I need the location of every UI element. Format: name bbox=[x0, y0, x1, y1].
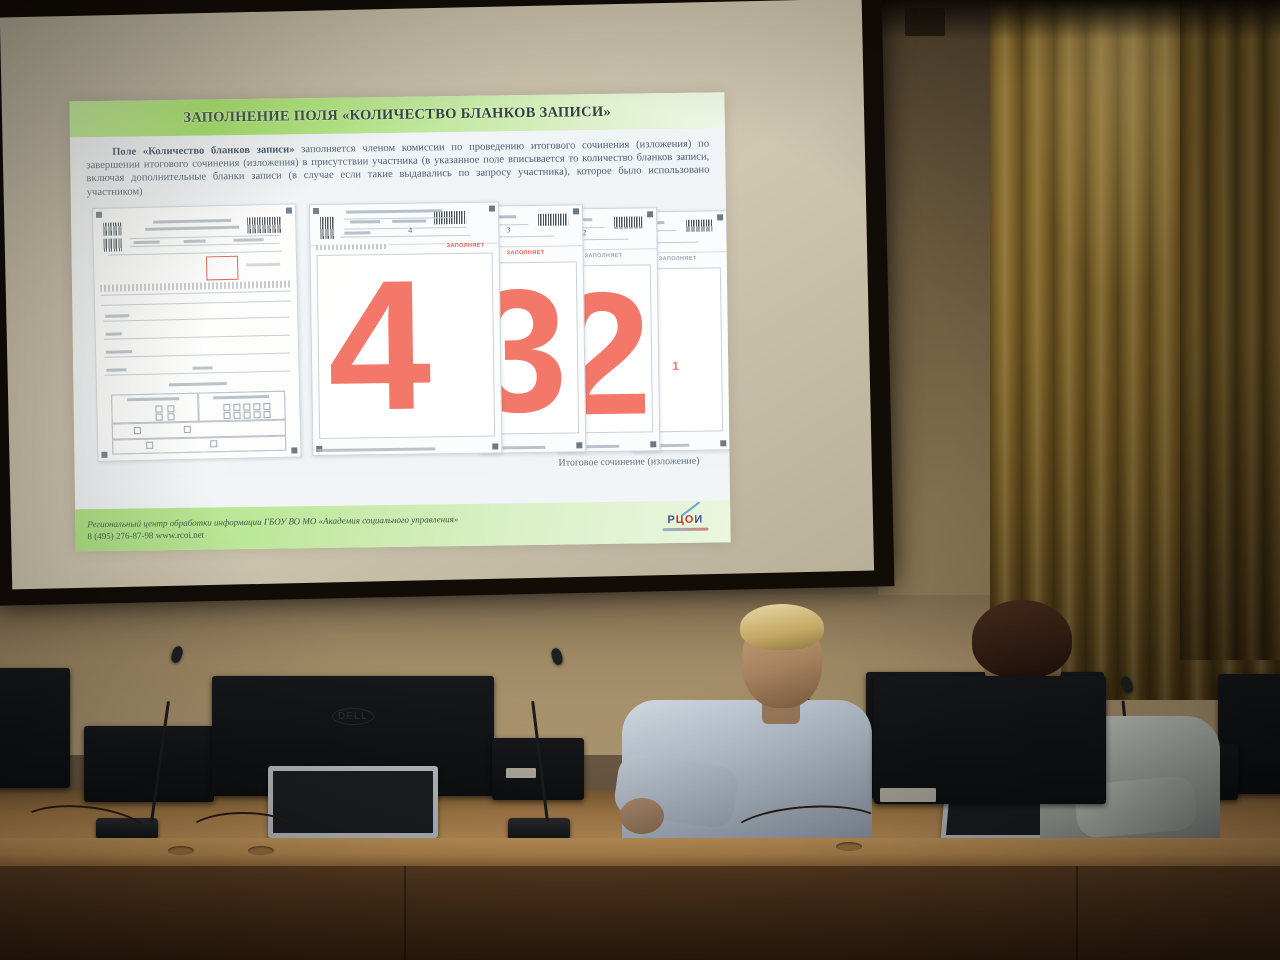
footer-contact: Региональный центр обработки информации … bbox=[75, 513, 458, 542]
count-field-highlight bbox=[206, 256, 239, 281]
slide-title: ЗАПОЛНЕНИЕ ПОЛЯ «КОЛИЧЕСТВО БЛАНКОВ ЗАПИ… bbox=[183, 103, 611, 126]
slide-footer-band: Региональный центр обработки информации … bbox=[75, 500, 731, 551]
colleague-hair bbox=[972, 600, 1072, 678]
desk-panel-seam-2 bbox=[1076, 866, 1078, 960]
presentation-slide: ЗАПОЛНЕНИЕ ПОЛЯ «КОЛИЧЕСТВО БЛАНКОВ ЗАПИ… bbox=[69, 92, 730, 551]
rcoi-logo-icon: РЦОИ bbox=[658, 507, 712, 536]
desk-cable-center bbox=[186, 812, 300, 856]
rcoi-underline bbox=[662, 527, 708, 531]
desk-front-panel bbox=[0, 866, 1280, 960]
cable-grommet-1 bbox=[168, 846, 194, 855]
conference-room-photo: ЗАПОЛНЕНИЕ ПОЛЯ «КОЛИЧЕСТВО БЛАНКОВ ЗАПИ… bbox=[0, 0, 1280, 960]
answer-sheets-fan: 1 ЗАПОЛНЯЕТ 1 bbox=[305, 194, 729, 462]
slide-caption: Итоговое сочинение (изложение) bbox=[558, 455, 699, 468]
back-wall-right bbox=[878, 0, 1008, 640]
projection-screen: ЗАПОЛНЕНИЕ ПОЛЯ «КОЛИЧЕСТВО БЛАНКОВ ЗАПИ… bbox=[0, 0, 895, 612]
forms-illustration: 1 ЗАПОЛНЯЕТ 1 bbox=[87, 198, 714, 479]
slide-paragraph: Поле «Количество бланков записи» заполня… bbox=[86, 138, 710, 200]
microphone-base-2 bbox=[508, 818, 570, 840]
rcoi-logo-text: РЦОИ bbox=[667, 513, 703, 525]
desk-panel-seam bbox=[404, 866, 406, 960]
monitor-far-left bbox=[0, 668, 70, 788]
dell-logo-icon: DELL bbox=[332, 708, 374, 725]
monitor-front-right bbox=[874, 676, 1106, 804]
speaker-hand bbox=[620, 798, 664, 834]
screen-surface: ЗАПОЛНЕНИЕ ПОЛЯ «КОЛИЧЕСТВО БЛАНКОВ ЗАПИ… bbox=[0, 0, 874, 589]
registration-form-image bbox=[92, 203, 302, 462]
slide-body: Поле «Количество бланков записи» заполня… bbox=[70, 128, 730, 479]
speaker-hair bbox=[740, 604, 824, 650]
monitor-name-plate bbox=[880, 788, 936, 802]
answer-sheet-4: 4 ЗАПОЛНЯЕТ 4 bbox=[309, 201, 502, 456]
monitor-left-wide bbox=[84, 726, 214, 802]
window-drape-side bbox=[1180, 0, 1280, 660]
